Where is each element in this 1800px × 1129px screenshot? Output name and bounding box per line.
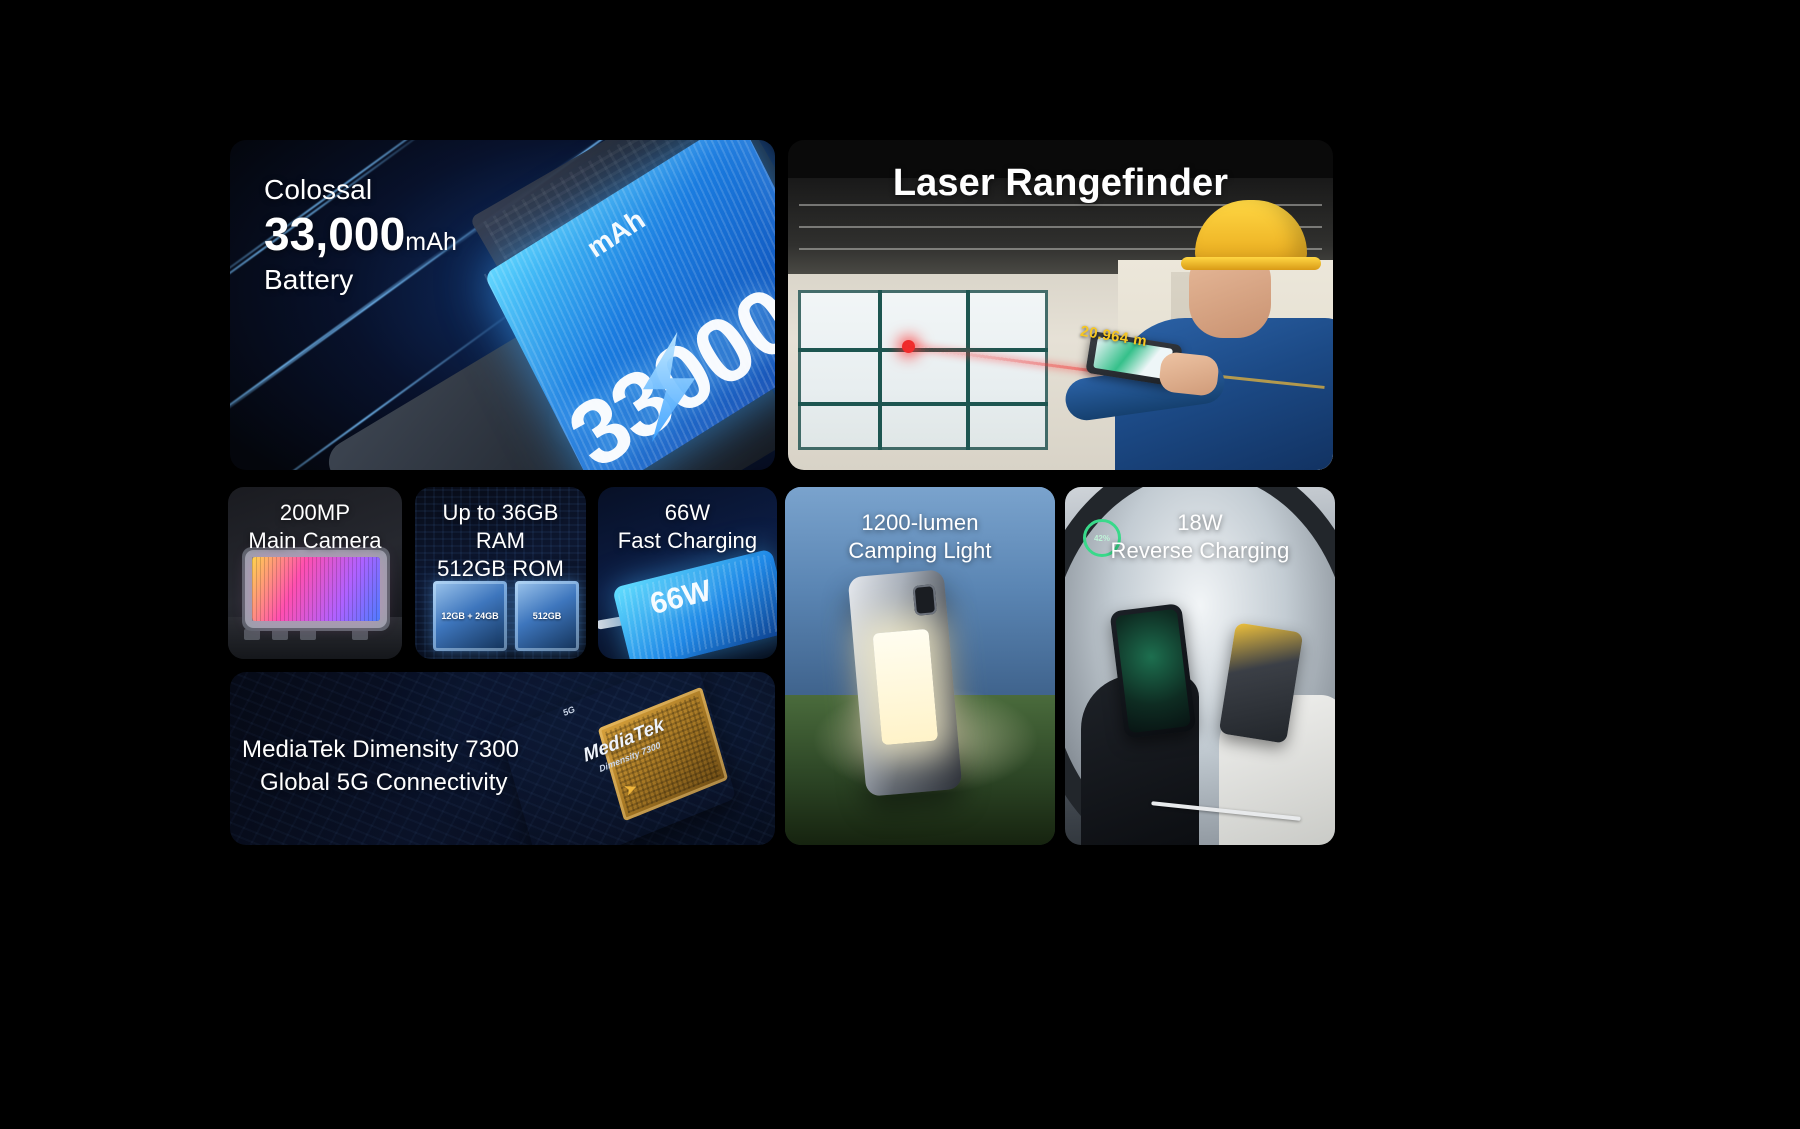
phone-art [1109,603,1196,739]
charging-caption-line2: Fast Charging [598,527,777,555]
camera-caption-line1: 200MP [228,499,402,527]
memory-caption-line2: 512GB ROM [415,555,586,583]
feature-grid: 33000 mAh Colossal 33,000mAh Battery [0,0,1800,1129]
ram-chip-art: 12GB + 24GB [433,581,507,651]
lamp-caption: 1200-lumen Camping Light [785,509,1055,565]
lamp-caption-line1: 1200-lumen [785,509,1055,537]
rom-chip-label: 512GB [533,610,562,622]
rugged-phone-art [848,569,963,797]
card-memory[interactable]: 12GB + 24GB 512GB Up to 36GB RAM 512GB R… [415,487,586,659]
soc-caption: MediaTek Dimensity 7300 Global 5G Connec… [242,734,775,799]
battery-caption-line3: Battery [264,262,457,298]
camping-lamp-icon [873,629,939,745]
card-mediatek-soc[interactable]: 5G MediaTek Dimensity 7300 ➤ MediaTek Di… [230,672,775,845]
camera-lens-icon [913,584,938,616]
reverse-caption-line2: Reverse Charging [1065,537,1335,565]
battery-caption-value: 33,000mAh [264,207,457,262]
charging-caption: 66W Fast Charging [598,499,777,555]
card-battery[interactable]: 33000 mAh Colossal 33,000mAh Battery [230,140,775,470]
memory-caption-line1: Up to 36GB RAM [415,499,586,555]
battery-value: 33,000 [264,208,405,260]
camera-caption-line2: Main Camera [228,527,402,555]
lamp-caption-line2: Camping Light [785,537,1055,565]
battery-caption-line1: Colossal [264,172,457,207]
soc-caption-line1: MediaTek Dimensity 7300 [242,734,775,767]
reverse-caption: 18W Reverse Charging [1065,509,1335,565]
ram-chip-label: 12GB + 24GB [441,610,498,622]
card-main-camera[interactable]: 200MP Main Camera [228,487,402,659]
window-wall-art [798,290,1048,450]
camera-module-base [228,617,402,659]
rom-chip-art: 512GB [515,581,579,651]
laser-title: Laser Rangefinder [788,162,1333,205]
camera-sensor-art [252,557,380,621]
charging-caption-line1: 66W [598,499,777,527]
battery-unit: mAh [405,228,457,256]
memory-caption: Up to 36GB RAM 512GB ROM [415,499,586,583]
card-camping-light[interactable]: 1200-lumen Camping Light [785,487,1055,845]
battery-caption: Colossal 33,000mAh Battery [264,172,457,299]
hard-hat-icon [1195,200,1307,266]
soc-caption-line2: Global 5G Connectivity [242,767,775,800]
reverse-caption-line1: 18W [1065,509,1335,537]
card-fast-charging[interactable]: 66W 66W Fast Charging [598,487,777,659]
card-reverse-charging[interactable]: 42% 18W Reverse Charging [1065,487,1335,845]
card-laser-rangefinder[interactable]: 20.964 m Laser Rangefinder [788,140,1333,470]
camera-caption: 200MP Main Camera [228,499,402,555]
worker-hand [1158,351,1220,397]
